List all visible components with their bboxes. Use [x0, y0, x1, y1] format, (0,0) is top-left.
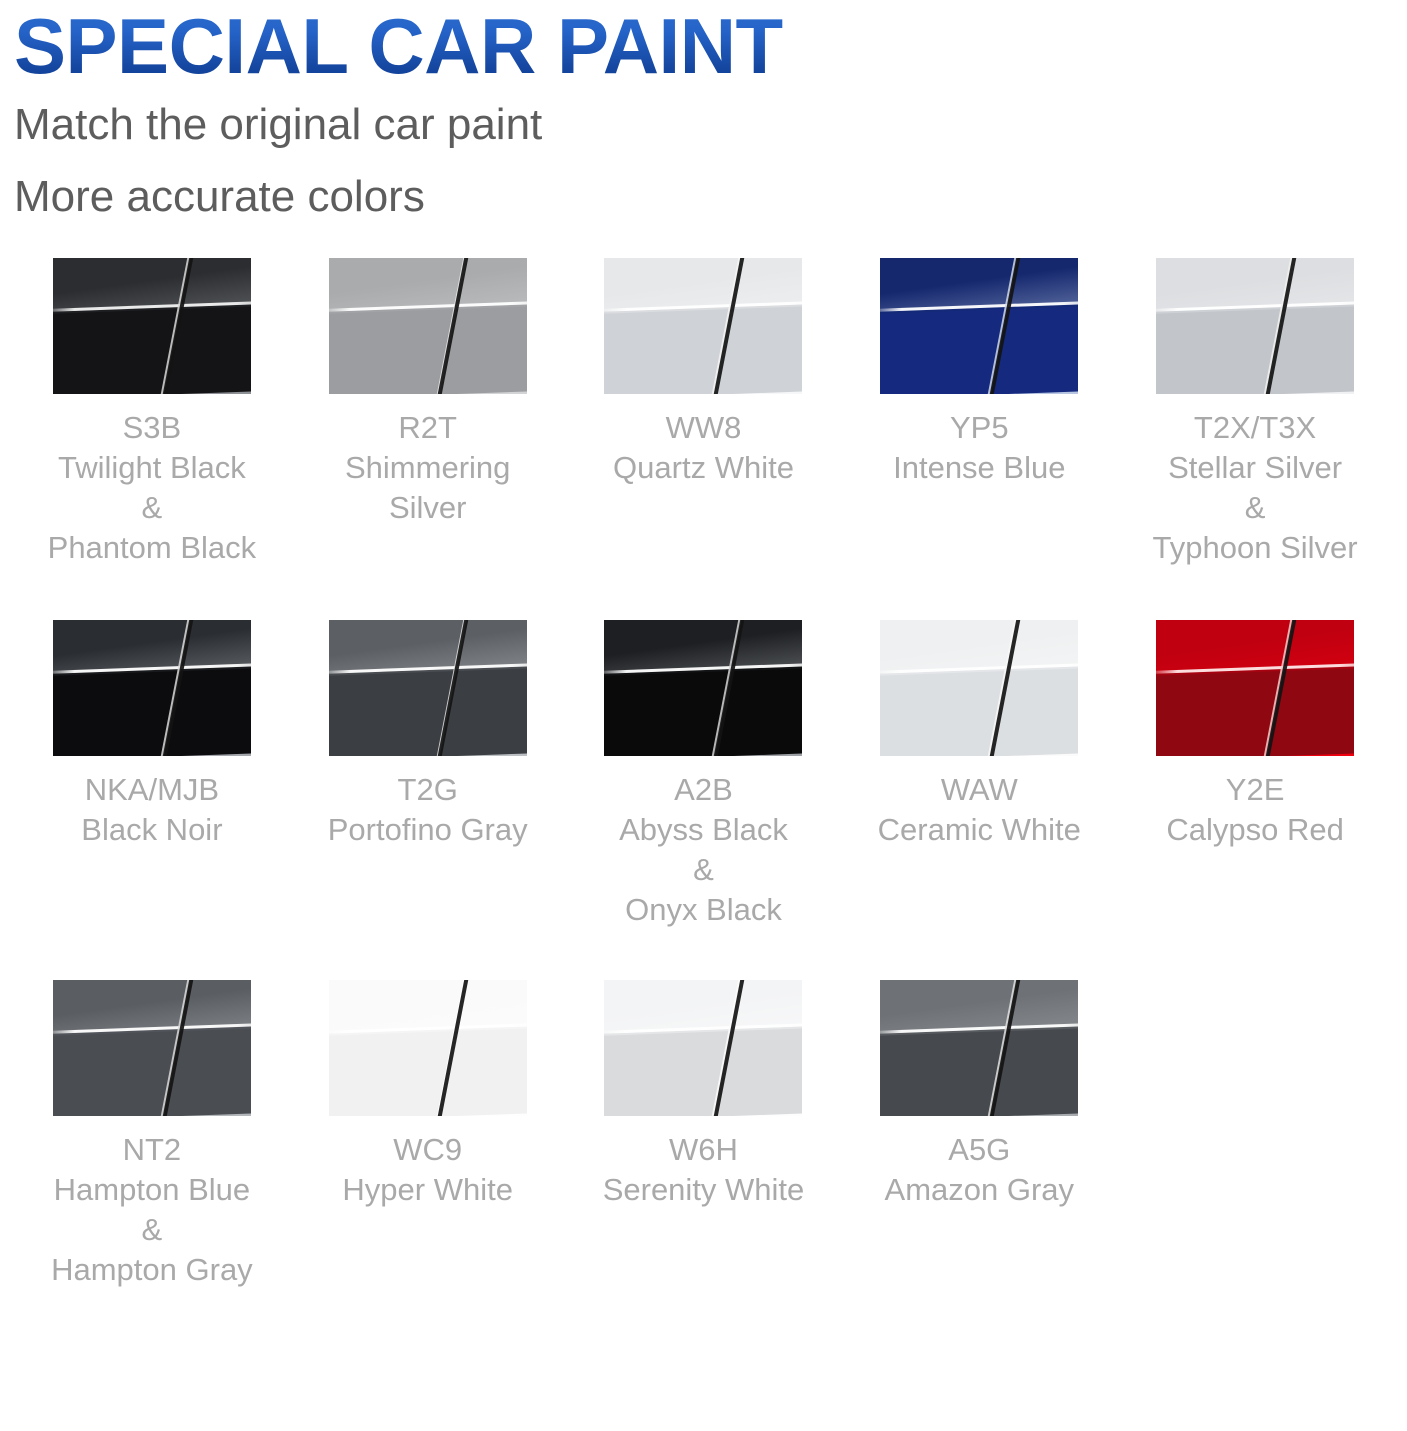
paint-label: A2BAbyss Black & Onyx Black — [619, 770, 788, 930]
car-panel-lower — [1156, 305, 1354, 394]
page-title: SPECIAL CAR PAINT — [14, 0, 1393, 90]
paint-name: Twilight Black & Phantom Black — [48, 448, 257, 568]
paint-label: YP5Intense Blue — [893, 408, 1065, 488]
paint-name: Shimmering Silver — [345, 448, 510, 528]
paint-code: A5G — [885, 1130, 1075, 1170]
paint-swatch-item[interactable]: S3BTwilight Black & Phantom Black — [14, 258, 290, 568]
car-panel-lower — [880, 667, 1078, 756]
paint-color-sample[interactable] — [329, 258, 527, 394]
car-panel-lower — [604, 305, 802, 394]
paint-swatch-item[interactable]: NKA/MJBBlack Noir — [14, 620, 290, 930]
paint-color-sample[interactable] — [604, 258, 802, 394]
paint-swatch-item[interactable]: YP5Intense Blue — [841, 258, 1117, 568]
paint-swatch-item[interactable]: WW8Quartz White — [566, 258, 842, 568]
paint-code: T2G — [328, 770, 528, 810]
car-panel-lower — [53, 667, 251, 756]
paint-code: NT2 — [51, 1130, 253, 1170]
paint-swatch-item[interactable]: A2BAbyss Black & Onyx Black — [566, 620, 842, 930]
paint-label: Y2ECalypso Red — [1166, 770, 1343, 850]
paint-code: YP5 — [893, 408, 1065, 448]
paint-label: NT2Hampton Blue & Hampton Gray — [51, 1130, 253, 1290]
infographic-page: SPECIAL CAR PAINT Match the original car… — [0, 0, 1407, 1431]
car-panel-lower — [604, 1027, 802, 1116]
car-panel-lower — [329, 1027, 527, 1116]
paint-color-sample[interactable] — [329, 980, 527, 1116]
paint-label: W6HSerenity White — [603, 1130, 805, 1210]
paint-swatch-grid: S3BTwilight Black & Phantom BlackR2TShim… — [14, 258, 1393, 1290]
paint-name: Serenity White — [603, 1170, 805, 1210]
paint-code: WC9 — [342, 1130, 513, 1170]
paint-name: Portofino Gray — [328, 810, 528, 850]
paint-color-sample[interactable] — [880, 620, 1078, 756]
paint-name: Amazon Gray — [885, 1170, 1075, 1210]
paint-label: WAWCeramic White — [878, 770, 1081, 850]
paint-swatch-item[interactable]: T2X/T3XStellar Silver & Typhoon Silver — [1117, 258, 1393, 568]
paint-swatch-item[interactable]: A5GAmazon Gray — [841, 980, 1117, 1290]
paint-label: T2X/T3XStellar Silver & Typhoon Silver — [1153, 408, 1358, 568]
paint-code: T2X/T3X — [1153, 408, 1358, 448]
subtitle-line-1: Match the original car paint — [14, 90, 1393, 160]
paint-name: Intense Blue — [893, 448, 1065, 488]
paint-color-sample[interactable] — [1156, 620, 1354, 756]
paint-name: Calypso Red — [1166, 810, 1343, 850]
paint-code: W6H — [603, 1130, 805, 1170]
paint-label: T2GPortofino Gray — [328, 770, 528, 850]
car-panel-lower — [329, 667, 527, 756]
paint-swatch-item[interactable]: WAWCeramic White — [841, 620, 1117, 930]
car-panel-lower — [1156, 667, 1354, 756]
paint-label: S3BTwilight Black & Phantom Black — [48, 408, 257, 568]
paint-color-sample[interactable] — [604, 980, 802, 1116]
paint-name: Abyss Black & Onyx Black — [619, 810, 788, 930]
paint-swatch-item[interactable]: W6HSerenity White — [566, 980, 842, 1290]
paint-color-sample[interactable] — [53, 258, 251, 394]
car-panel-lower — [880, 1027, 1078, 1116]
paint-name: Ceramic White — [878, 810, 1081, 850]
paint-code: S3B — [48, 408, 257, 448]
paint-color-sample[interactable] — [1156, 258, 1354, 394]
paint-code: WAW — [878, 770, 1081, 810]
paint-name: Hampton Blue & Hampton Gray — [51, 1170, 253, 1290]
paint-color-sample[interactable] — [880, 980, 1078, 1116]
paint-name: Quartz White — [613, 448, 794, 488]
car-panel-lower — [880, 305, 1078, 394]
paint-label: R2TShimmering Silver — [345, 408, 510, 528]
paint-swatch-item[interactable]: Y2ECalypso Red — [1117, 620, 1393, 930]
paint-code: Y2E — [1166, 770, 1343, 810]
paint-code: WW8 — [613, 408, 794, 448]
paint-name: Black Noir — [81, 810, 222, 850]
paint-color-sample[interactable] — [604, 620, 802, 756]
paint-color-sample[interactable] — [880, 258, 1078, 394]
subtitle-line-2: More accurate colors — [14, 162, 1393, 232]
paint-swatch-item[interactable]: T2GPortofino Gray — [290, 620, 566, 930]
car-panel-lower — [329, 305, 527, 394]
paint-color-sample[interactable] — [329, 620, 527, 756]
paint-swatch-item[interactable]: R2TShimmering Silver — [290, 258, 566, 568]
paint-code: R2T — [345, 408, 510, 448]
paint-label: WC9Hyper White — [342, 1130, 513, 1210]
paint-color-sample[interactable] — [53, 980, 251, 1116]
paint-name: Stellar Silver & Typhoon Silver — [1153, 448, 1358, 568]
car-panel-lower — [604, 667, 802, 756]
paint-swatch-item[interactable]: NT2Hampton Blue & Hampton Gray — [14, 980, 290, 1290]
paint-color-sample[interactable] — [53, 620, 251, 756]
paint-label: WW8Quartz White — [613, 408, 794, 488]
car-panel-lower — [53, 1027, 251, 1116]
paint-code: A2B — [619, 770, 788, 810]
car-panel-lower — [53, 305, 251, 394]
paint-code: NKA/MJB — [81, 770, 222, 810]
paint-label: NKA/MJBBlack Noir — [81, 770, 222, 850]
paint-swatch-item[interactable]: WC9Hyper White — [290, 980, 566, 1290]
paint-label: A5GAmazon Gray — [885, 1130, 1075, 1210]
paint-name: Hyper White — [342, 1170, 513, 1210]
